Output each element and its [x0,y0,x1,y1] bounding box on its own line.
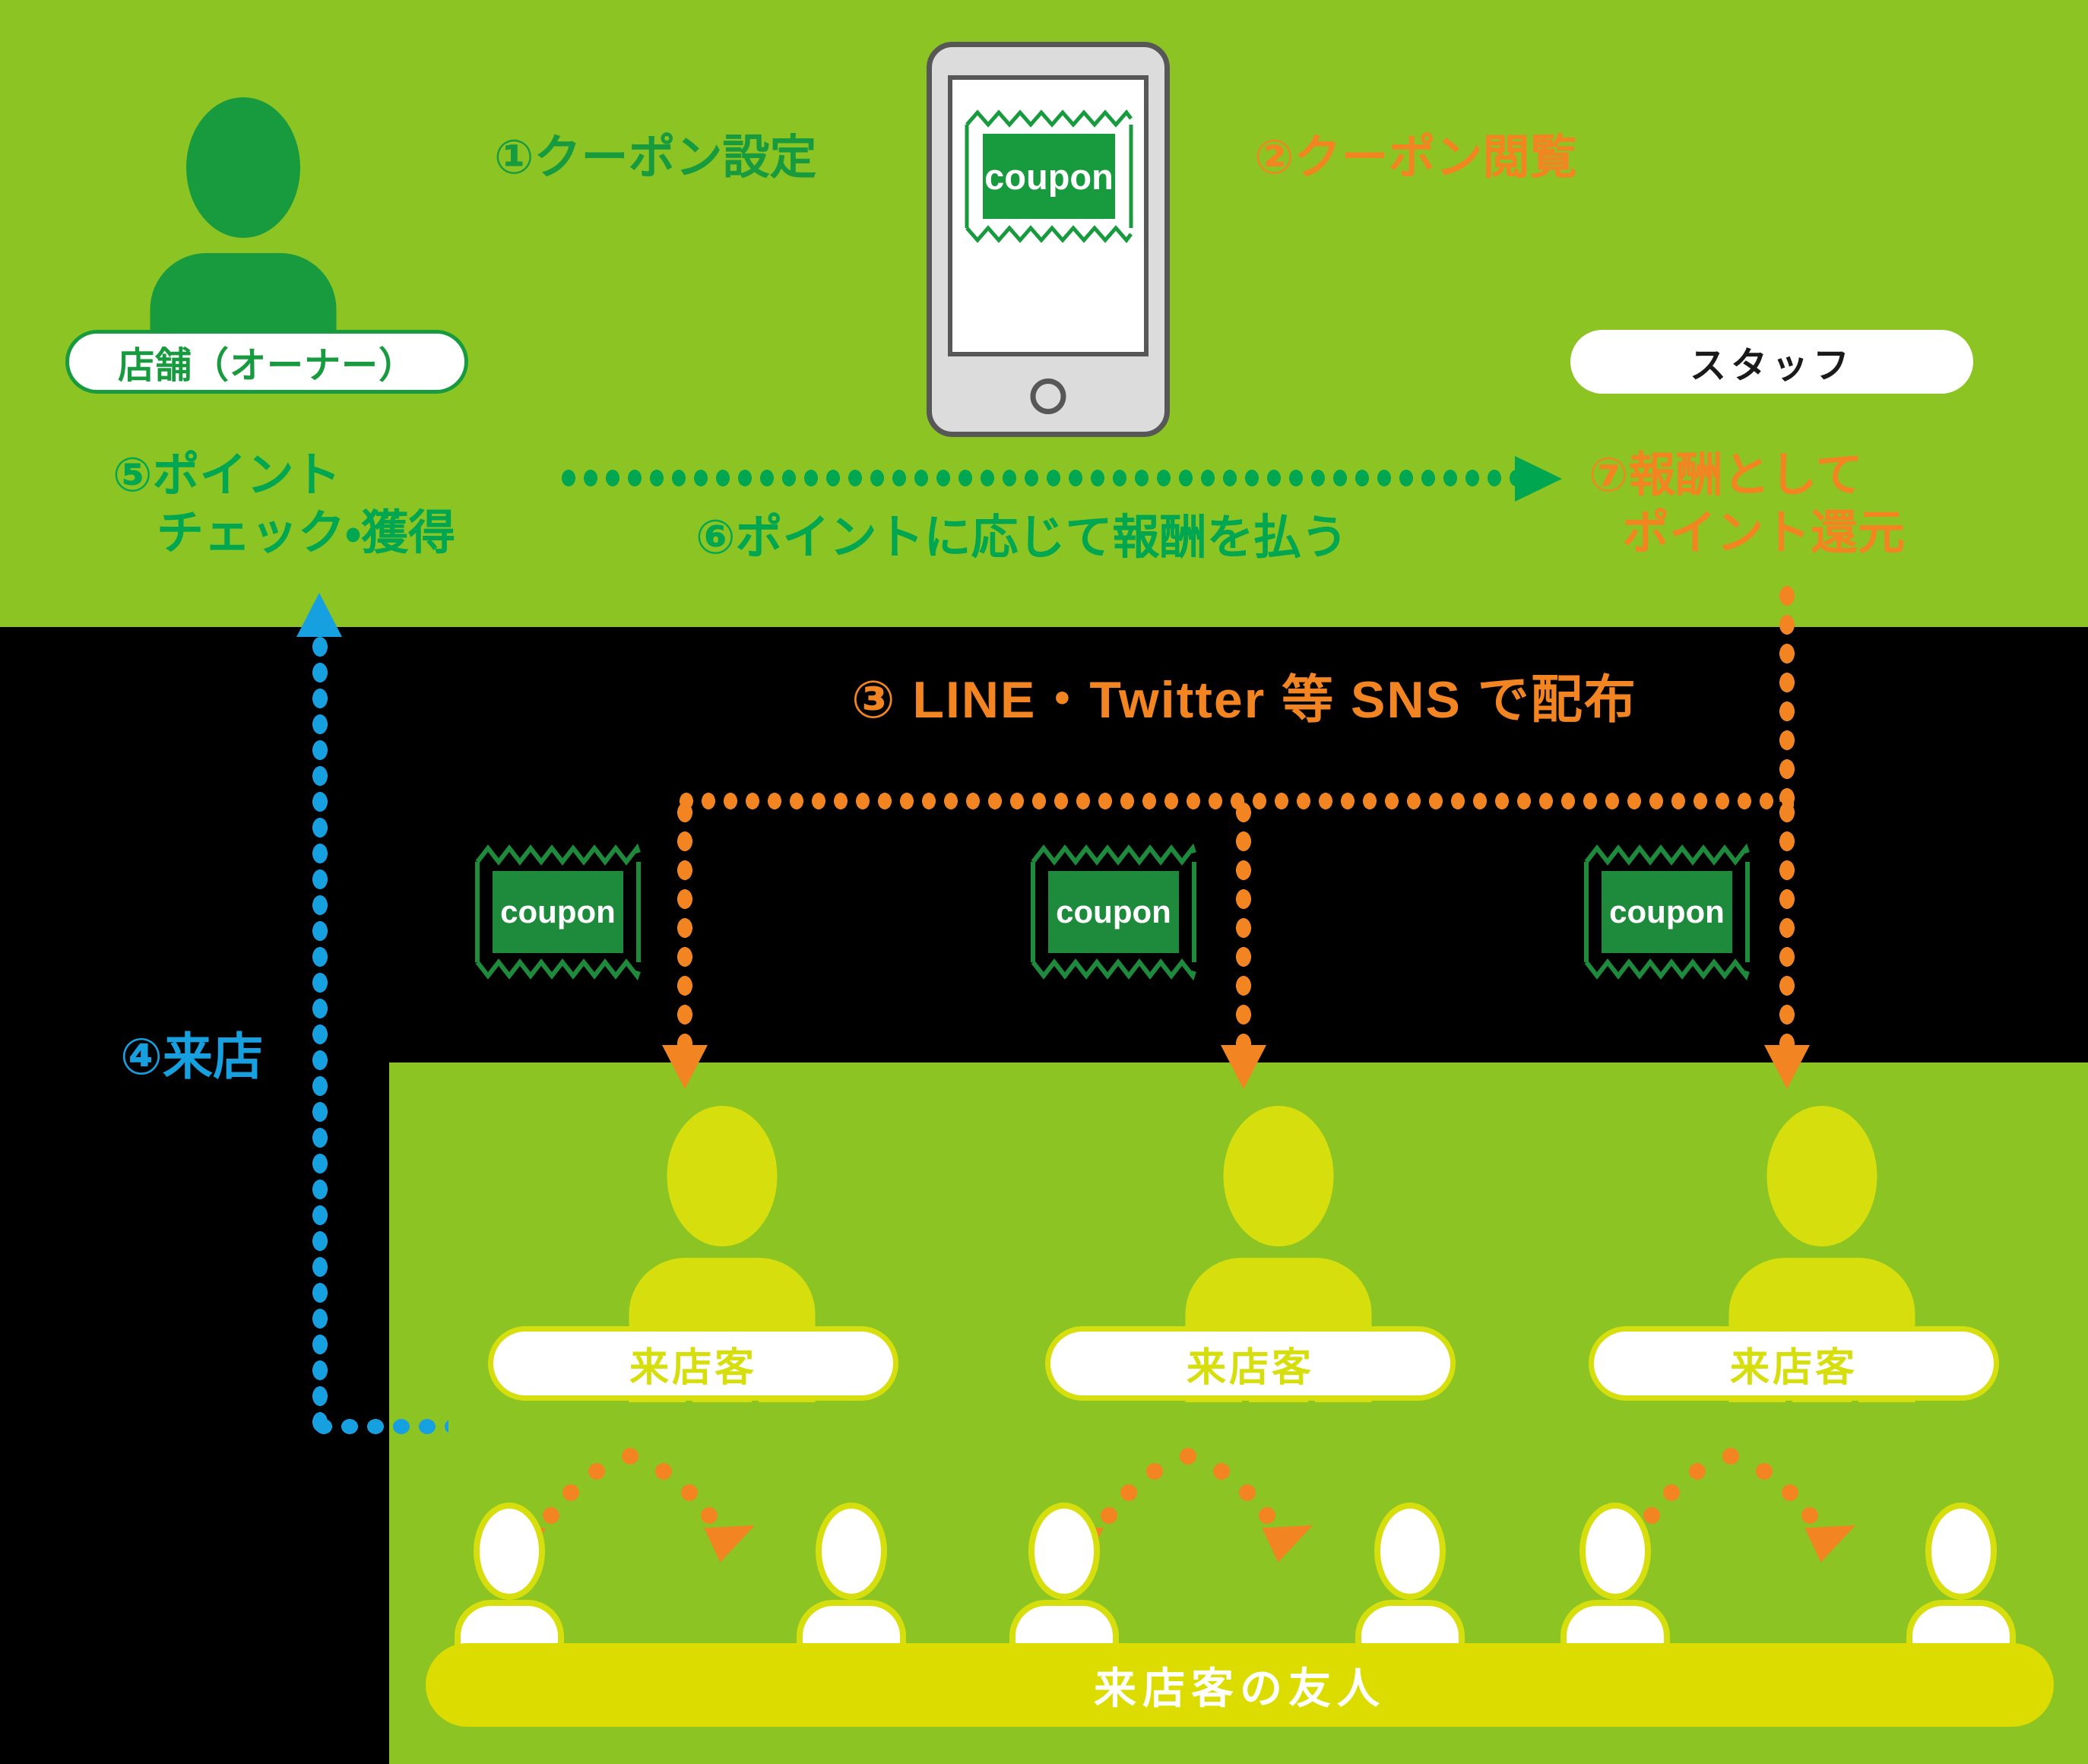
staff-label: スタッフ [1570,330,1973,394]
step-7-line-2: ポイント還元 [1589,505,1905,562]
owner-to-staff-dotted-line [559,470,1520,486]
step-5-line-2: チェック・獲得 [112,505,455,562]
step-5-label: ⑤ポイント チェック・獲得 [112,447,455,562]
customer-head-icon [667,1106,778,1246]
customer-label: 来店客 [1045,1326,1456,1401]
reward-return-dotted-vertical [1779,581,1795,802]
friends-banner: 来店客の友人 [426,1643,2054,1727]
sns-distribution-dotted-vertical [676,798,693,1049]
sns-distribution-arrow-icon [1764,1045,1810,1089]
visit-store-dotted-horizontal [312,1418,448,1435]
customer-head-icon [1767,1106,1877,1246]
customer-label-text: 来店客 [1187,1335,1314,1392]
step-3-label: ③ LINE・Twitter 等 SNS で配布 [851,669,1637,732]
step-2-label: ②クーポン閲覧 [1254,129,1577,187]
coupon-ticket-icon: coupon [1025,844,1202,980]
owner-head-icon [186,97,300,238]
coupon-ticket-icon: coupon [1579,844,1755,980]
store-owner-label-text: 店舗（オーナー） [118,335,416,388]
step-7-line-1: ⑦報酬として [1589,449,1863,502]
friend-head-icon [480,1509,539,1594]
friend-head-icon [1034,1509,1094,1594]
friend-head-icon [1931,1509,1991,1594]
staff-label-text: スタッフ [1690,335,1854,388]
visit-store-arrow-icon [296,593,342,637]
coupon-ticket-icon: coupon [959,108,1139,245]
friend-head-icon [822,1509,881,1594]
visit-store-dotted-vertical [312,608,328,1435]
step-4-label: ④来店 [120,1026,263,1088]
customer-label-text: 来店客 [629,1335,757,1392]
step-1-label: ①クーポン設定 [494,129,817,187]
owner-to-staff-arrow-icon [1515,456,1562,502]
customer-label-text: 来店客 [1730,1335,1858,1392]
sns-distribution-dotted-vertical [1779,798,1795,1049]
friends-banner-text: 来店客の友人 [1094,1655,1386,1716]
step-6-label: ⑥ポイントに応じて報酬を払う [695,509,1348,567]
friend-head-icon [1380,1509,1440,1594]
customer-head-icon [1224,1106,1334,1246]
sns-distribution-dotted-vertical [1235,798,1252,1049]
store-owner-icon [129,97,357,348]
customer-label: 来店客 [488,1326,898,1401]
coupon-ticket-icon: coupon [470,844,646,980]
customer-label: 来店客 [1589,1326,1999,1401]
diagram-canvas: 店舗（オーナー） スタッフ coupon ①クーポン設定 ②クーポン閲覧 ⑤ポイ… [0,0,2088,1764]
sns-distribution-arrow-icon [1221,1045,1266,1089]
step-5-line-1: ⑤ポイント [112,449,341,502]
friend-head-icon [1586,1509,1645,1594]
phone-home-button-icon[interactable] [1031,378,1066,414]
store-owner-label: 店舗（オーナー） [65,330,468,394]
sns-distribution-arrow-icon [662,1045,708,1089]
step-7-label: ⑦報酬として ポイント還元 [1589,447,1905,562]
